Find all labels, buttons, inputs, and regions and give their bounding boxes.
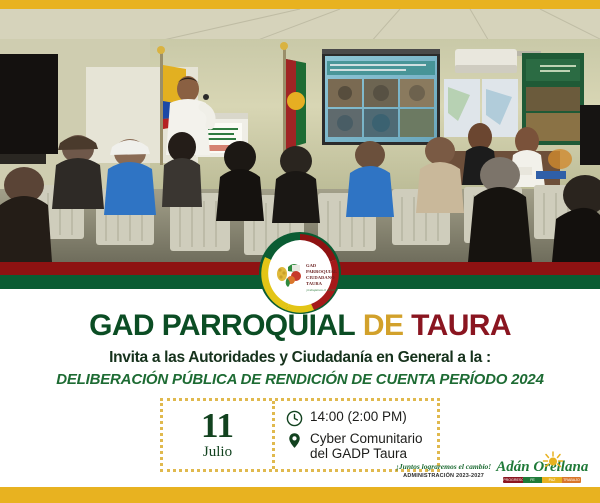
administration-period: ADMINISTRACIÓN 2023-2027 — [403, 473, 484, 479]
signature-color-bar: PROGRESO FE PAZ TRABAJO — [503, 477, 581, 483]
svg-text:TAURA: TAURA — [306, 281, 323, 286]
gad-emblem-logo: GAD PARROQUIAL CIUDADANO TAURA ¡trabajam… — [258, 231, 342, 315]
bar-item-1: FE — [523, 477, 543, 483]
headline-part-red: TAURA — [411, 309, 511, 342]
svg-text:CIUDADANO: CIUDADANO — [306, 275, 335, 280]
event-time: 14:00 (2:00 PM) — [310, 409, 407, 424]
invitation-subtitle: Invita a las Autoridades y Ciudadanía en… — [0, 349, 600, 367]
svg-text:¡trabajamos el cambio!: ¡trabajamos el cambio! — [306, 288, 338, 292]
bar-item-3: TRABAJO — [562, 477, 582, 483]
poster-root: GAD PARROQUIAL CIUDADANO TAURA ¡trabajam… — [0, 0, 600, 503]
sun-icon — [542, 451, 564, 469]
event-photo — [0, 9, 600, 262]
event-month: Julio — [203, 444, 232, 461]
slogan-group: ¡Juntos lograremos el cambio! ADMINISTRA… — [396, 463, 491, 478]
headline-part-gold: DE — [363, 309, 403, 342]
svg-text:PARROQUIAL: PARROQUIAL — [306, 269, 337, 274]
map-pin-icon — [286, 432, 303, 449]
bottom-brand-band — [0, 487, 600, 503]
page-title: GAD PARROQUIAL DE TAURA — [0, 311, 600, 341]
svg-text:GAD: GAD — [306, 263, 317, 268]
campaign-slogan: ¡Juntos lograremos el cambio! — [396, 463, 491, 471]
signature-logo: Adán Orellana PROGRESO FE PAZ TRABAJO — [496, 460, 588, 483]
top-brand-band — [0, 0, 600, 9]
clock-icon — [286, 410, 303, 427]
bar-item-0: PROGRESO — [503, 477, 523, 483]
event-time-row: 14:00 (2:00 PM) — [286, 409, 437, 427]
signature-block: ¡Juntos lograremos el cambio! ADMINISTRA… — [396, 455, 596, 487]
invitation-content: GAD PARROQUIAL DE TAURA Invita a las Aut… — [0, 289, 600, 487]
event-venue-line2: del GADP Taura — [310, 446, 407, 461]
bar-item-2: PAZ — [542, 477, 562, 483]
invitation-event-name: DELIBERACIÓN PÚBLICA DE RENDICIÓN DE CUE… — [0, 371, 600, 388]
event-venue-line1: Cyber Comunitario — [310, 431, 423, 446]
event-date: 11 Julio — [163, 401, 275, 469]
event-day: 11 — [201, 409, 234, 442]
